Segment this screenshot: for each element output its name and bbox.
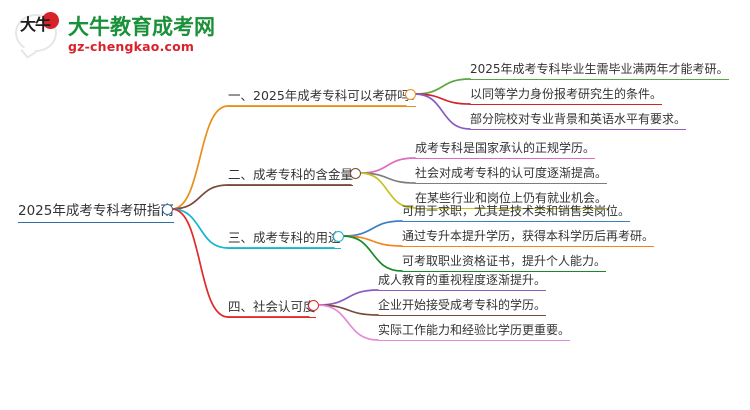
mindmap-edge: [172, 209, 228, 317]
mindmap-root-node[interactable]: 2025年成考专科考研指南: [18, 203, 174, 223]
mindmap-leaf-node-3-3[interactable]: 可考取职业资格证书，提升个人能力。: [402, 254, 606, 272]
mindmap-branch-node-2[interactable]: 二、成考专科的含金量: [228, 167, 353, 186]
mindmap-edge: [360, 158, 415, 173]
mindmap-leaf-node-2-1[interactable]: 成考专科是国家承认的正规学历。: [415, 141, 595, 159]
mindmap-leaf-node-4-2[interactable]: 企业开始接受成考专科的学历。: [378, 298, 546, 316]
mindmap-edge: [172, 185, 228, 209]
branch-connector-dot-1[interactable]: [405, 89, 416, 100]
mindmap-edge: [318, 305, 378, 315]
root-connector-dot[interactable]: [162, 204, 173, 215]
mindmap-edge: [343, 236, 402, 246]
mindmap-branch-node-3[interactable]: 三、成考专科的用途: [228, 230, 341, 249]
mindmap-edge: [415, 79, 470, 94]
mindmap-edge: [318, 290, 378, 305]
mindmap-canvas: 2025年成考专科考研指南一、2025年成考专科可以考研吗?2025年成考专科毕…: [0, 0, 750, 410]
mindmap-leaf-node-1-1[interactable]: 2025年成考专科毕业生需毕业满两年才能考研。: [470, 62, 729, 80]
mindmap-page: 大牛 大牛教育成考网 gz-chengkao.com 2025年成考专科考研指南…: [0, 0, 750, 410]
mindmap-edge: [343, 236, 402, 271]
mindmap-edge: [360, 173, 415, 183]
mindmap-edge: [415, 94, 470, 104]
branch-connector-dot-3[interactable]: [333, 231, 344, 242]
mindmap-leaf-node-1-3[interactable]: 部分院校对专业背景和英语水平有要求。: [470, 112, 686, 130]
mindmap-branch-node-1[interactable]: 一、2025年成考专科可以考研吗?: [228, 88, 416, 107]
mindmap-leaf-node-4-3[interactable]: 实际工作能力和经验比学历更重要。: [378, 323, 570, 341]
mindmap-leaf-node-2-2[interactable]: 社会对成考专科的认可度逐渐提高。: [415, 166, 607, 184]
mindmap-leaf-node-3-1[interactable]: 可用于求职，尤其是技术类和销售类岗位。: [402, 204, 630, 222]
mindmap-edge: [172, 209, 228, 248]
mindmap-leaf-node-4-1[interactable]: 成人教育的重视程度逐渐提升。: [378, 273, 546, 291]
mindmap-edge: [343, 221, 402, 236]
branch-connector-dot-4[interactable]: [308, 300, 319, 311]
mindmap-edge: [318, 305, 378, 340]
mindmap-leaf-node-3-2[interactable]: 通过专升本提升学历，获得本科学历后再考研。: [402, 229, 654, 247]
mindmap-branch-node-4[interactable]: 四、社会认可度: [228, 299, 316, 318]
mindmap-leaf-node-1-2[interactable]: 以同等学力身份报考研究生的条件。: [470, 87, 662, 105]
mindmap-edge: [360, 173, 415, 208]
mindmap-edge: [415, 94, 470, 129]
mindmap-edge: [172, 106, 228, 209]
branch-connector-dot-2[interactable]: [350, 168, 361, 179]
